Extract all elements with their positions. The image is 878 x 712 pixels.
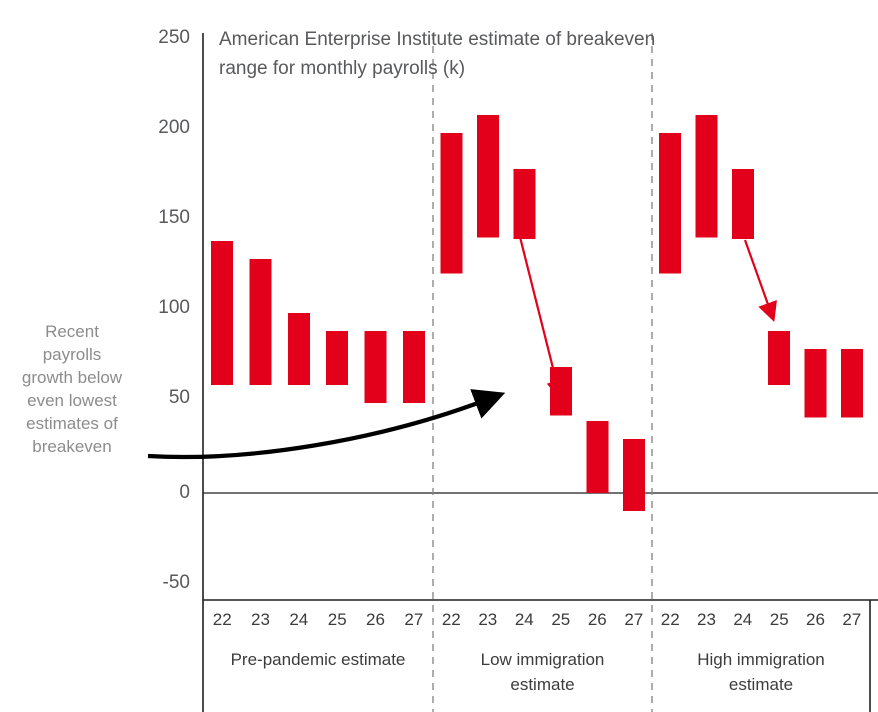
group-label-0: Pre-pandemic estimate <box>231 650 406 669</box>
x-tick-2-24: 24 <box>733 610 752 629</box>
bar-0-27 <box>403 331 425 403</box>
bar-1-26 <box>586 421 608 493</box>
group-label-1: Low immigration <box>481 650 605 669</box>
recent-payrolls-annotation: Recent payrolls growth below even lowest… <box>22 322 123 456</box>
bar-1-22 <box>440 133 462 273</box>
bar-2-26 <box>805 349 827 417</box>
group-label-2-line2: estimate <box>729 675 793 694</box>
y-tick-0: 0 <box>179 482 190 503</box>
x-tick-0-23: 23 <box>251 610 270 629</box>
x-tick-1-27: 27 <box>624 610 643 629</box>
x-axis-year-labels: 222324252627222324252627222324252627 <box>213 610 862 629</box>
chart-title-line1: American Enterprise Institute estimate o… <box>219 29 655 50</box>
bar-series <box>211 115 863 511</box>
x-tick-1-25: 25 <box>551 610 570 629</box>
y-axis-ticks: 250 200 150 100 50 0 -50 <box>158 27 190 593</box>
x-tick-2-27: 27 <box>842 610 861 629</box>
bar-1-24 <box>513 169 535 239</box>
y-tick-50: 50 <box>169 387 190 408</box>
bar-1-23 <box>477 115 499 237</box>
bar-2-22 <box>659 133 681 273</box>
x-tick-2-25: 25 <box>770 610 789 629</box>
x-tick-0-24: 24 <box>289 610 308 629</box>
y-tick-150: 150 <box>158 207 190 228</box>
group-label-2: High immigration <box>697 650 825 669</box>
x-tick-2-22: 22 <box>661 610 680 629</box>
bar-0-25 <box>326 331 348 385</box>
bar-0-22 <box>211 241 233 385</box>
group-labels: Pre-pandemic estimateLow immigrationesti… <box>231 650 825 694</box>
x-tick-2-26: 26 <box>806 610 825 629</box>
bar-1-25 <box>550 367 572 416</box>
bar-0-24 <box>288 313 310 385</box>
bar-2-24 <box>732 169 754 239</box>
x-tick-0-27: 27 <box>404 610 423 629</box>
y-tick-250: 250 <box>158 27 190 48</box>
x-tick-2-23: 23 <box>697 610 716 629</box>
low-immigration-drop-arrow-icon <box>520 237 558 388</box>
annotation-line-4: even lowest <box>27 391 117 410</box>
high-immigration-drop-arrow-icon <box>745 240 770 310</box>
y-tick-100: 100 <box>158 297 190 318</box>
bar-1-27 <box>623 439 645 511</box>
y-tick-neg50: -50 <box>163 572 190 593</box>
x-tick-1-22: 22 <box>442 610 461 629</box>
chart-title-line2: range for monthly payrolls (k) <box>219 58 465 79</box>
breakeven-range-chart: 250 200 150 100 50 0 -50 222324252627222… <box>0 0 878 712</box>
bar-2-25 <box>768 331 790 385</box>
chart-canvas: 250 200 150 100 50 0 -50 222324252627222… <box>0 0 878 712</box>
x-tick-0-25: 25 <box>328 610 347 629</box>
y-tick-200: 200 <box>158 117 190 138</box>
bar-0-23 <box>250 259 272 385</box>
annotation-line-5: estimates of <box>26 414 118 433</box>
x-tick-0-26: 26 <box>366 610 385 629</box>
black-curved-arrow-icon <box>148 400 486 457</box>
x-tick-1-24: 24 <box>515 610 534 629</box>
bar-2-27 <box>841 349 863 417</box>
annotation-line-3: growth below <box>22 368 123 387</box>
annotation-line-1: Recent <box>45 322 99 341</box>
annotation-line-6: breakeven <box>32 437 111 456</box>
bar-2-23 <box>696 115 718 237</box>
bar-0-26 <box>365 331 387 403</box>
x-tick-1-23: 23 <box>478 610 497 629</box>
x-tick-1-26: 26 <box>588 610 607 629</box>
x-tick-0-22: 22 <box>213 610 232 629</box>
group-label-1-line2: estimate <box>510 675 574 694</box>
annotation-line-2: payrolls <box>43 345 102 364</box>
